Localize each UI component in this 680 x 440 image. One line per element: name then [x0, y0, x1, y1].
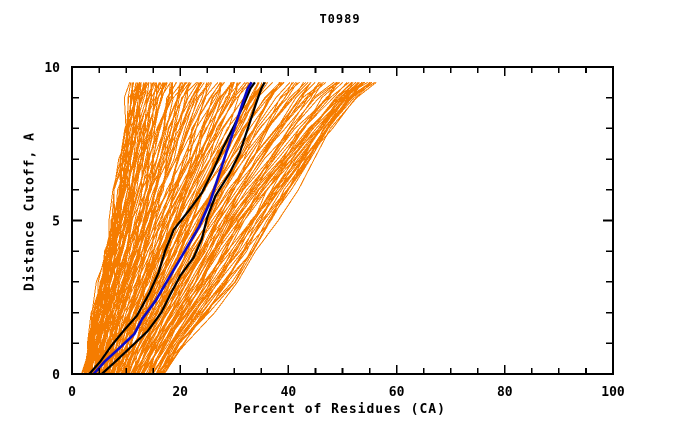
x-tick-label: 20: [172, 385, 188, 400]
x-tick-label: 40: [281, 385, 297, 400]
y-tick-label: 5: [52, 215, 60, 230]
chart-figure: T0989 0204060801000510 Percent of Residu…: [0, 0, 680, 440]
x-tick-label: 100: [601, 385, 625, 400]
x-tick-label: 0: [68, 385, 76, 400]
x-tick-label: 80: [497, 385, 513, 400]
y-tick-label: 0: [52, 368, 60, 383]
plot-canvas[interactable]: 0204060801000510: [0, 0, 680, 440]
y-axis-label: Distance Cutoff, A: [23, 92, 38, 332]
prediction-envelope-curves: [81, 82, 376, 374]
x-tick-label: 60: [389, 385, 405, 400]
x-axis-label: Percent of Residues (CA): [0, 402, 680, 417]
y-tick-label: 10: [44, 61, 60, 76]
